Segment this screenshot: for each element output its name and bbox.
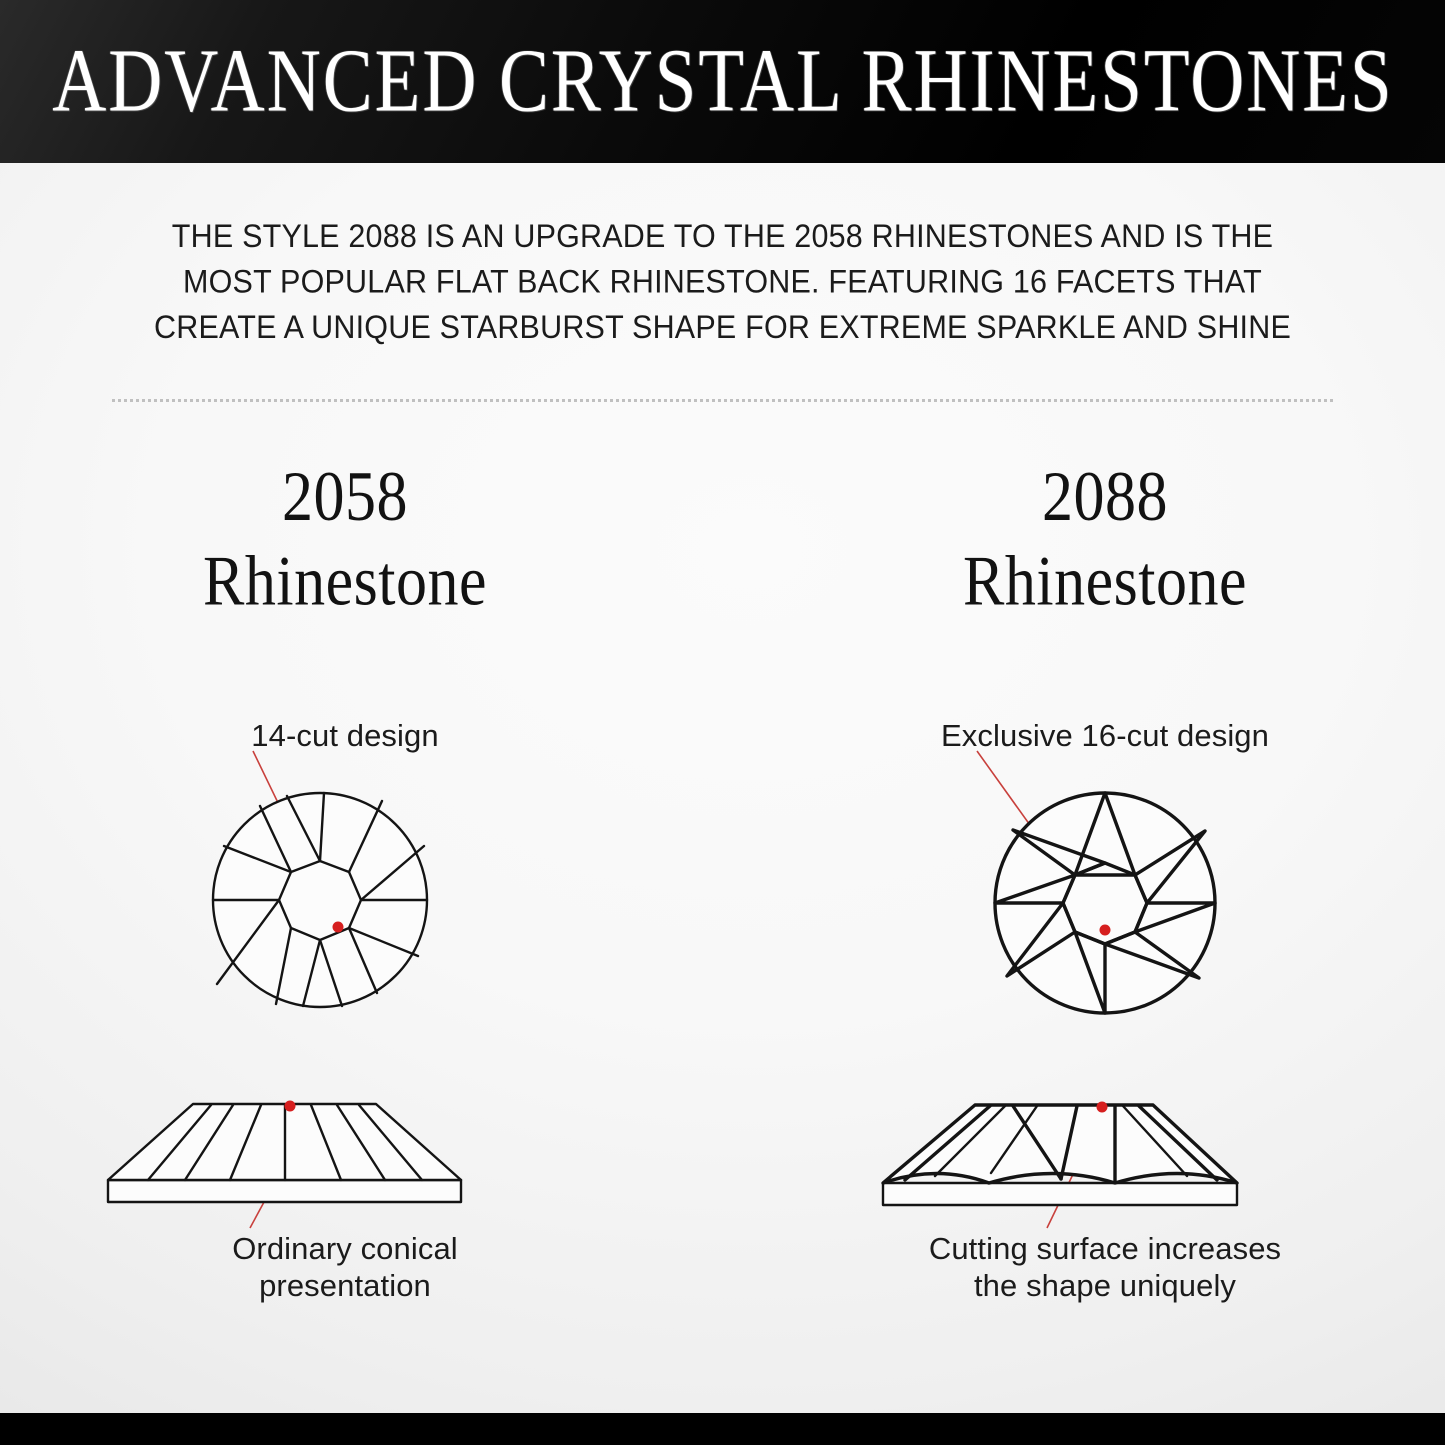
diagram-starburst-16-facet-top-view [785,760,1425,1020]
intro-line-1: THE STYLE 2088 IS AN UPGRADE TO THE 2058… [108,214,1337,260]
page-title: ADVANCED CRYSTAL RHINESTONES [52,30,1393,133]
comparison-column-2088: 2088 Rhinestone [785,455,1425,603]
intro-paragraph: THE STYLE 2088 IS AN UPGRADE TO THE 2058… [108,214,1337,351]
annotation-14-cut-design: 14-cut design [25,718,665,754]
marker-dot-left-top [333,922,344,933]
diagram-round-14-facet-top-view [25,760,665,1020]
column-word-2058: Rhinestone [25,539,665,623]
diagram-conical-profile-left [25,1078,665,1213]
column-number-2058: 2058 [25,455,665,539]
column-heading-2088: 2088 Rhinestone [785,455,1425,624]
marker-dot-right-top [1100,925,1111,936]
intro-line-3: CREATE A UNIQUE STARBURST SHAPE FOR EXTR… [108,305,1337,351]
product-infographic-page: ADVANCED CRYSTAL RHINESTONES THE STYLE 2… [0,0,1445,1445]
diagram-starburst-profile-right [785,1078,1425,1213]
annotation-ordinary-conical: Ordinary conical presentation [25,1230,665,1304]
comparison-column-2058: 2058 Rhinestone [25,455,665,603]
footer-bar [0,1413,1445,1445]
intro-line-2: MOST POPULAR FLAT BACK RHINESTONE. FEATU… [108,260,1337,306]
annotation-ordinary-conical-line-1: Ordinary conical [25,1230,665,1267]
dotted-divider [112,399,1334,402]
column-number-2088: 2088 [785,455,1425,539]
annotation-cutting-surface: Cutting surface increases the shape uniq… [785,1230,1425,1304]
crystal-base-slab-right [883,1183,1237,1205]
crystal-base-slab-left [108,1180,461,1202]
column-word-2088: Rhinestone [785,539,1425,623]
column-heading-2058: 2058 Rhinestone [25,455,665,624]
annotation-ordinary-conical-line-2: presentation [25,1267,665,1304]
annotation-cutting-surface-line-1: Cutting surface increases [785,1230,1425,1267]
marker-dot-left-bottom [285,1101,296,1112]
annotation-exclusive-16-cut-design: Exclusive 16-cut design [785,718,1425,754]
marker-dot-right-bottom [1097,1102,1108,1113]
header-banner: ADVANCED CRYSTAL RHINESTONES [0,0,1445,163]
annotation-cutting-surface-line-2: the shape uniquely [785,1267,1425,1304]
